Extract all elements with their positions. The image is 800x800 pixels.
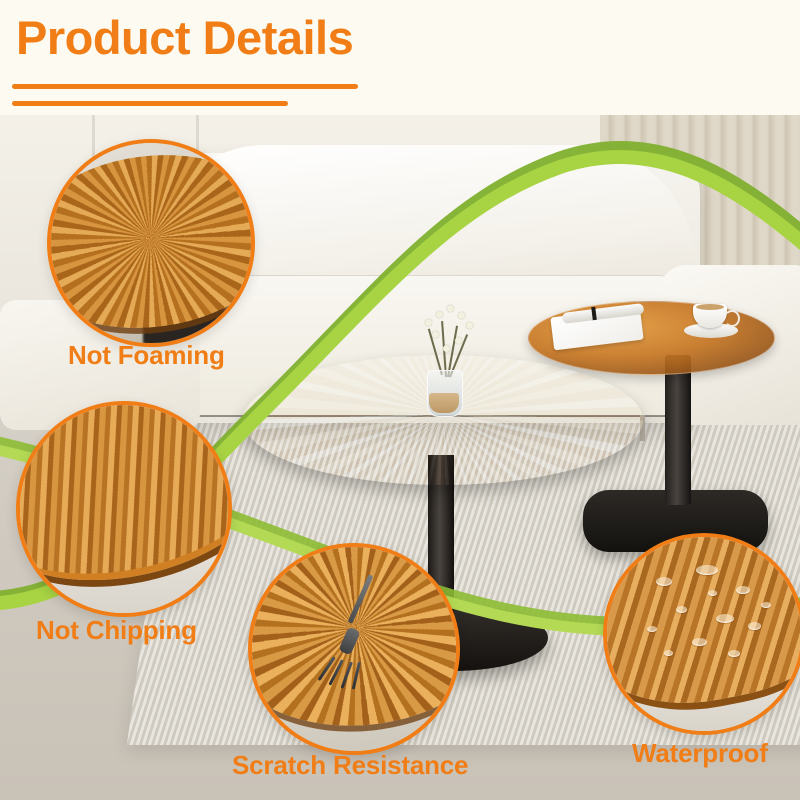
feature-circle-waterproof[interactable] — [603, 533, 800, 735]
feature-circle-not-chipping[interactable] — [16, 401, 232, 617]
feature-circle-image-waterproof — [603, 533, 800, 735]
page-title: Product Details — [16, 12, 353, 64]
water-droplet — [676, 606, 687, 613]
coffee-cup-handle — [724, 310, 740, 327]
coffee-cup-liquid — [696, 304, 724, 310]
title-rule-bottom — [12, 101, 288, 106]
dried-flower — [443, 345, 450, 352]
feature-label-not-chipping: Not Chipping — [36, 615, 197, 646]
feature-circle-not-foaming[interactable] — [47, 139, 255, 347]
vase-water — [429, 393, 459, 413]
feature-circle-image-not-chipping — [16, 401, 232, 617]
dried-flower — [436, 311, 443, 318]
feature-label-waterproof: Waterproof — [632, 738, 768, 769]
side-table-stem — [665, 355, 691, 505]
dried-flower — [458, 312, 465, 319]
feature-label-not-foaming: Not Foaming — [68, 340, 225, 371]
feature-label-scratch-resistance: Scratch Resistance — [232, 750, 468, 781]
water-droplet — [708, 590, 717, 596]
dried-flower — [466, 322, 473, 329]
feature-circle-scratch-resistance[interactable] — [248, 543, 460, 755]
feature-circle-image-not-foaming — [47, 139, 255, 347]
feature-circle-image-scratch-resistance — [248, 543, 460, 755]
title-rule-top — [12, 84, 358, 89]
dried-flower — [447, 305, 454, 312]
dried-flower — [455, 337, 462, 344]
water-droplet — [692, 638, 707, 646]
product-details-banner: Not Foaming Not Chipping Scratch Resista… — [0, 0, 800, 800]
water-droplet — [664, 650, 673, 656]
water-droplet — [716, 614, 734, 623]
water-droplet — [736, 586, 750, 594]
dried-flower — [432, 331, 439, 338]
dried-flower — [425, 319, 432, 326]
water-droplet — [761, 602, 771, 608]
